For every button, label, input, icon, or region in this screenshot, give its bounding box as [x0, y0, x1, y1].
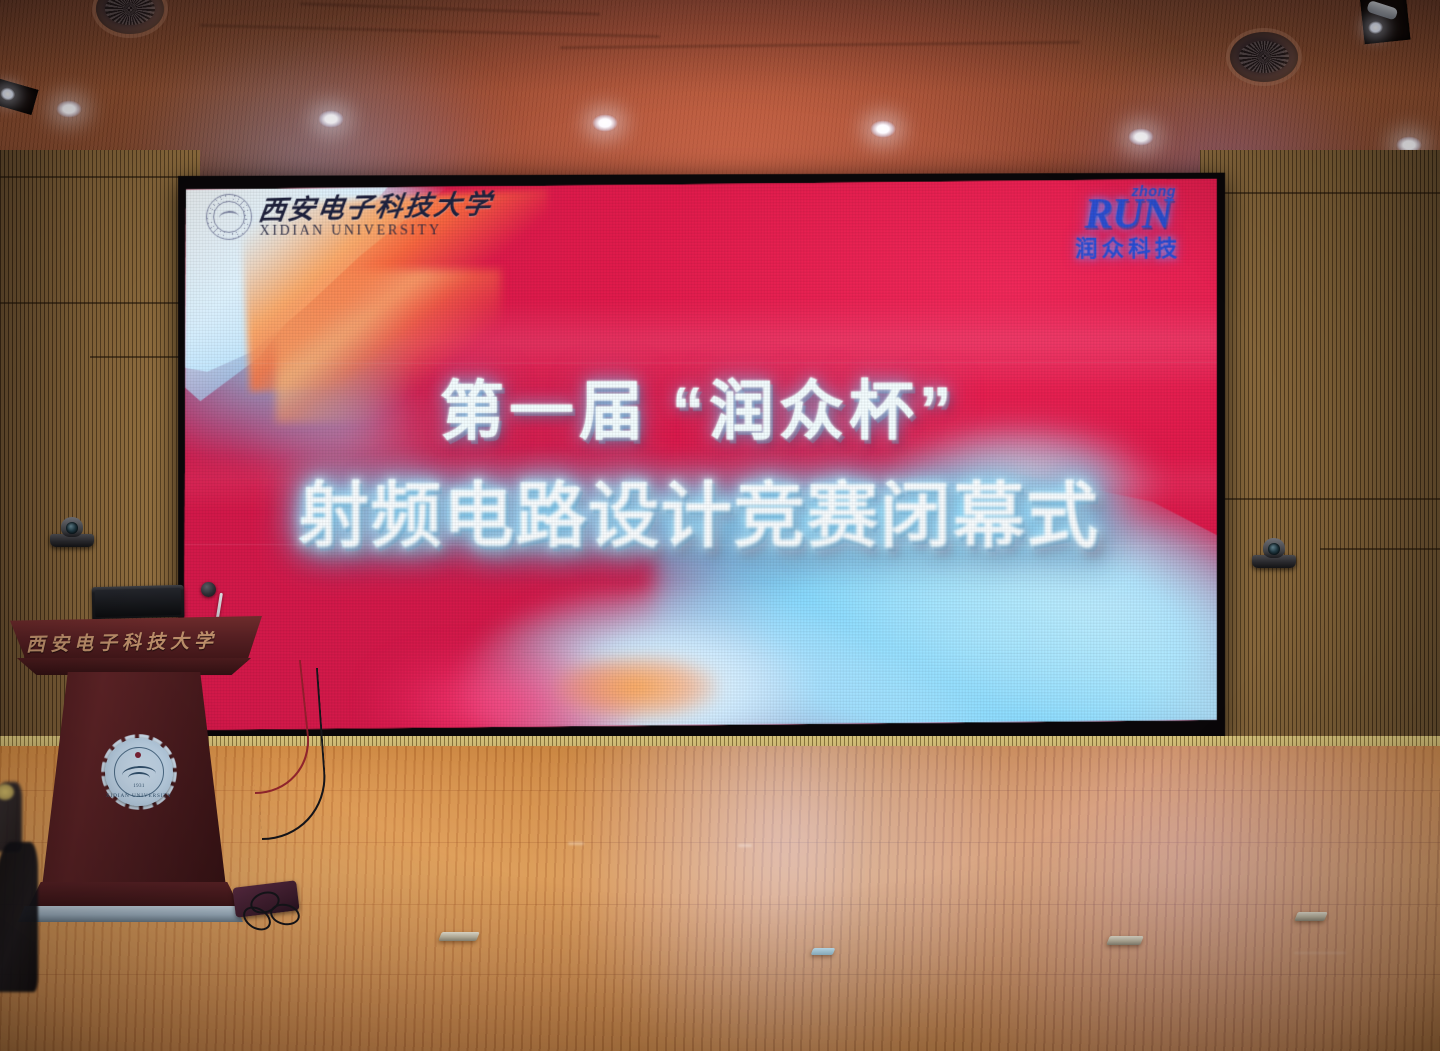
xidian-seal-icon	[206, 194, 252, 240]
wall-joint	[1320, 548, 1440, 550]
microphone-head-icon[interactable]	[201, 582, 216, 597]
spotlight-glow	[0, 86, 17, 103]
floor-outlet-cover	[1294, 912, 1328, 921]
podium-emblem: 1931 XIDIAN UNIVERSITY	[105, 738, 173, 806]
podium-monitor[interactable]	[92, 585, 185, 619]
sponsor-mark-superscript: zhong	[1131, 184, 1176, 198]
emblem-name-en: XIDIAN UNIVERSITY	[105, 793, 173, 799]
floor-outlet-cover	[811, 948, 836, 955]
auditorium-scene: 西安电子科技大学 XIDIAN UNIVERSITY RUN zhong 润众科…	[0, 0, 1440, 1051]
led-screen-bezel: 西安电子科技大学 XIDIAN UNIVERSITY RUN zhong 润众科…	[178, 173, 1225, 745]
floor-outlet-cover	[438, 932, 480, 941]
wall-joint	[0, 302, 200, 304]
wall-joint	[0, 176, 200, 178]
ceiling-speaker	[1230, 32, 1298, 82]
floor-violet-light-reflection	[893, 746, 1440, 1051]
wall-joint	[1200, 192, 1440, 194]
emblem-bird-inner-icon	[128, 772, 150, 784]
sponsor-name-cn: 润众科技	[1075, 238, 1181, 260]
spotlight-fixture	[1366, 0, 1398, 21]
banner-title-line-2: 射频电路设计竞赛闭幕式	[184, 460, 1217, 562]
floor-scuff	[738, 844, 752, 847]
podium: 西安电子科技大学 1931 XIDIAN UNIVERSITY	[4, 616, 274, 936]
emblem-year: 1931	[105, 784, 173, 789]
podium-top: 西安电子科技大学	[10, 616, 262, 662]
podium-university-name: 西安电子科技大学	[26, 626, 219, 657]
floor-outlet-cover	[1106, 936, 1144, 945]
right-wall	[1200, 150, 1440, 790]
university-name-block: 西安电子科技大学 XIDIAN UNIVERSITY	[260, 194, 493, 239]
camera-lens-icon	[1268, 543, 1280, 555]
spotlight-glow	[1367, 20, 1383, 34]
university-name-cn: 西安电子科技大学	[257, 191, 494, 225]
ceiling-spotlight-slot	[1360, 0, 1411, 44]
university-name-en: XIDIAN UNIVERSITY	[260, 224, 493, 239]
ceiling-downlight	[870, 120, 896, 138]
camera-lens-icon	[66, 522, 78, 534]
floor-scuff	[568, 842, 584, 845]
podium-plinth	[28, 882, 240, 908]
emblem-dot	[135, 752, 141, 758]
banner-title: 第一届 “润众杯” 射频电路设计竞赛闭幕式	[184, 359, 1217, 562]
podium-foot	[18, 906, 243, 922]
sponsor-mark-en: RUN zhong	[1084, 193, 1172, 236]
sponsor-logo: RUN zhong 润众科技	[1075, 193, 1181, 260]
floor-scuff	[1294, 952, 1346, 954]
ceiling-downlight	[1128, 128, 1154, 146]
wall-camera-right	[1252, 538, 1296, 568]
silk-orange-accent-bottom	[553, 654, 718, 721]
seal-rays	[206, 194, 252, 240]
banner-title-line-1: 第一届 “润众杯”	[184, 359, 1217, 452]
wall-camera-left	[50, 517, 94, 547]
wall-joint	[1200, 498, 1440, 500]
ceiling-downlight	[318, 110, 344, 128]
ceiling-downlight	[56, 100, 82, 118]
wall-slat-texture	[1200, 150, 1440, 790]
seal-bird-icon	[219, 210, 240, 224]
university-logo: 西安电子科技大学 XIDIAN UNIVERSITY	[206, 193, 492, 240]
ceiling-downlight	[592, 114, 618, 132]
led-screen: 西安电子科技大学 XIDIAN UNIVERSITY RUN zhong 润众科…	[184, 179, 1217, 733]
foreground-object	[0, 842, 38, 992]
